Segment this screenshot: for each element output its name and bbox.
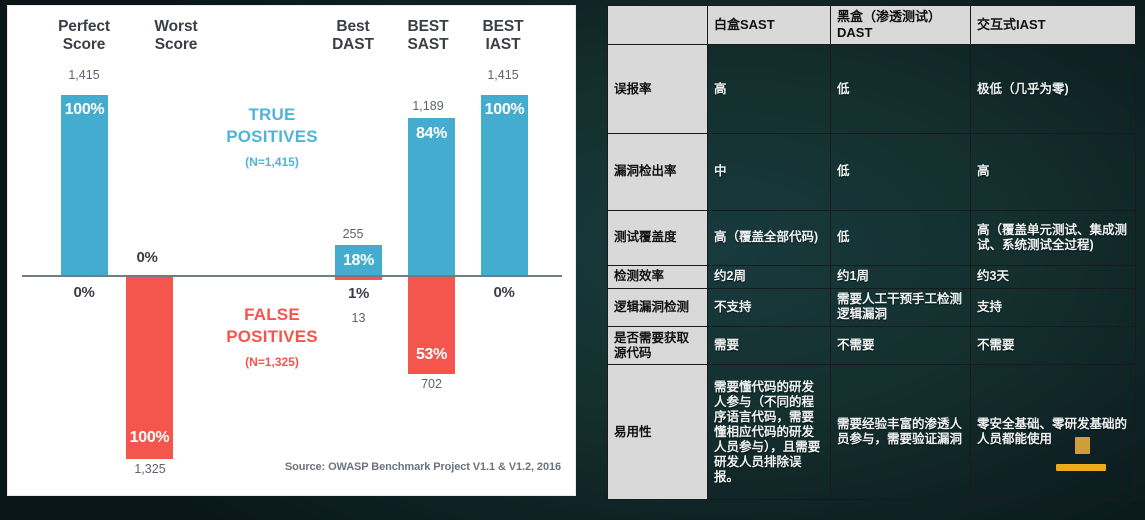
chart-source-note: Source: OWASP Benchmark Project V1.1 & V… [285,461,561,473]
bar-value-worst-tp: 0% [111,249,183,266]
bar-count-dast-tp: 255 [319,227,387,241]
bar-count-worst-fp: 1,325 [112,462,188,476]
row-head-source-code-required: 是否需要获取源代码 [608,326,708,364]
bar-iast-true-positive [481,95,528,275]
header-cell-dast: 黑盒（渗透测试） DAST [831,6,971,45]
category-label-worst-score: Worst Score [120,18,232,53]
bar-value-dast-fp: 1% [335,285,382,302]
sast-dast-iast-comparison-table: 白盒SAST 黑盒（渗透测试） DAST 交互式IAST 误报率 高 低 极低（… [607,5,1136,500]
comparison-table-wrapper: 白盒SAST 黑盒（渗透测试） DAST 交互式IAST 误报率 高 低 极低（… [607,5,1135,500]
row-head-false-positive-rate: 误报率 [608,45,708,134]
cell-false-positive-rate-dast: 低 [831,45,971,134]
row-head-detection-efficiency: 检测效率 [608,265,708,288]
bar-count-sast-tp: 1,189 [394,99,462,113]
bar-dast-false-positive [335,277,382,280]
table-row: 逻辑漏洞检测 不支持 需要人工干预手工检测逻辑漏洞 支持 [608,288,1136,326]
bar-value-worst-fp: 100% [126,429,173,447]
zero-axis-line [22,275,562,277]
cell-false-positive-rate-iast: 极低（几乎为零) [971,45,1136,134]
bar-value-perfect-tp: 100% [61,101,108,119]
annotation-false-positives: FALSE POSITIVES (N=1,325) [208,304,336,373]
cell-false-positive-rate-sast: 高 [708,45,831,134]
slide-root: Perfect Score Worst Score Best DAST BEST… [0,0,1145,520]
bar-count-sast-fp: 702 [408,377,455,391]
table-header-row: 白盒SAST 黑盒（渗透测试） DAST 交互式IAST [608,6,1136,45]
row-head-usability: 易用性 [608,365,708,500]
bar-value-sast-fp: 53% [408,346,455,364]
cell-logic-vuln-detection-dast: 需要人工干预手工检测逻辑漏洞 [831,288,971,326]
cell-source-code-required-iast: 不需要 [971,326,1136,364]
cell-usability-sast: 需要懂代码的研发人参与（不同的程序语言代码，需要懂相应代码的研发人员参与），且需… [708,365,831,500]
cell-usability-dast: 需要经验丰富的渗透人员参与，需要验证漏洞 [831,365,971,500]
bar-value-sast-tp: 84% [408,125,455,143]
chart-plot-area: Perfect Score Worst Score Best DAST BEST… [8,6,575,495]
bar-count-perfect-tp: 1,415 [44,68,124,82]
cell-detection-rate-sast: 中 [708,134,831,211]
bar-count-iast-tp: 1,415 [469,68,537,82]
bar-value-dast-tp: 18% [335,252,382,270]
header-cell-iast: 交互式IAST [971,6,1136,45]
highlight-underline-marker [1056,464,1106,471]
category-label-best-sast: BEST SAST [386,18,470,53]
row-head-detection-rate: 漏洞检出率 [608,134,708,211]
cell-detection-efficiency-dast: 约1周 [831,265,971,288]
row-head-test-coverage: 测试覆盖度 [608,210,708,265]
category-label-best-iast: BEST IAST [461,18,545,53]
header-cell-sast: 白盒SAST [708,6,831,45]
owasp-benchmark-chart-panel: Perfect Score Worst Score Best DAST BEST… [8,6,575,495]
cell-detection-efficiency-iast: 约3天 [971,265,1136,288]
annotation-true-positives: TRUE POSITIVES (N=1,415) [208,104,336,173]
bar-count-dast-fp: 13 [335,311,382,325]
bar-value-iast-tp: 100% [481,101,528,119]
cell-detection-rate-iast: 高 [971,134,1136,211]
cell-test-coverage-dast: 低 [831,210,971,265]
table-row: 检测效率 约2周 约1周 约3天 [608,265,1136,288]
cell-test-coverage-iast: 高（覆盖单元测试、集成测试、系统测试全过程) [971,210,1136,265]
table-row: 误报率 高 低 极低（几乎为零) [608,45,1136,134]
cell-test-coverage-sast: 高（覆盖全部代码) [708,210,831,265]
table-row: 是否需要获取源代码 需要 不需要 不需要 [608,326,1136,364]
cell-detection-efficiency-sast: 约2周 [708,265,831,288]
bar-perfect-true-positive [61,95,108,275]
table-row: 漏洞检出率 中 低 高 [608,134,1136,211]
cell-usability-iast: 零安全基础、零研发基础的人员都能使用 [971,365,1136,500]
cell-logic-vuln-detection-iast: 支持 [971,288,1136,326]
bar-value-perfect-fp: 0% [48,284,120,301]
row-head-logic-vuln-detection: 逻辑漏洞检测 [608,288,708,326]
header-cell-blank [608,6,708,45]
table-row: 易用性 需要懂代码的研发人参与（不同的程序语言代码，需要懂相应代码的研发人员参与… [608,365,1136,500]
cell-detection-rate-dast: 低 [831,134,971,211]
cell-source-code-required-dast: 不需要 [831,326,971,364]
category-label-best-dast: Best DAST [311,18,395,53]
table-row: 测试覆盖度 高（覆盖全部代码) 低 高（覆盖单元测试、集成测试、系统测试全过程) [608,210,1136,265]
bar-value-iast-fp: 0% [470,284,538,301]
cell-source-code-required-sast: 需要 [708,326,831,364]
cell-logic-vuln-detection-sast: 不支持 [708,288,831,326]
